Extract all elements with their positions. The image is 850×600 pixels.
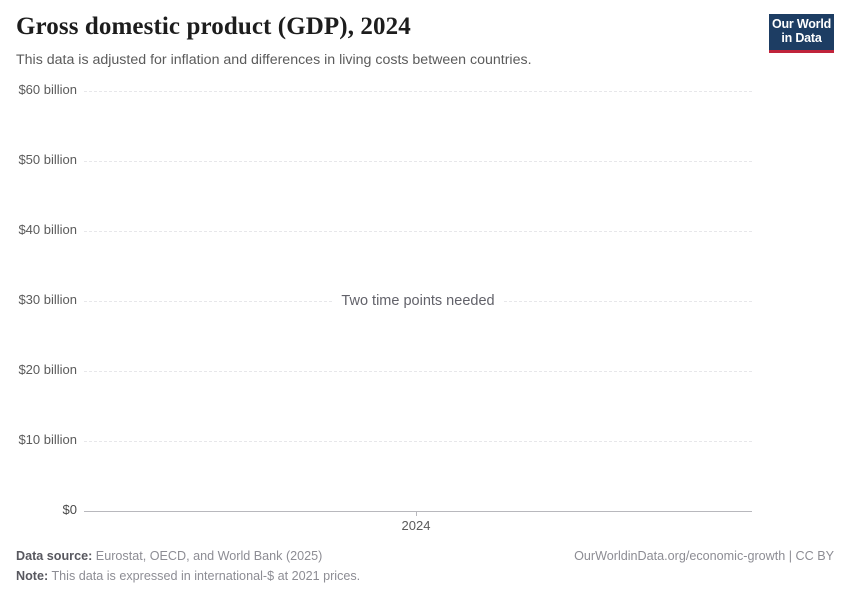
logo-line-2: in Data	[781, 32, 821, 46]
data-source-line: Data source: Eurostat, OECD, and World B…	[16, 548, 322, 565]
attribution-link[interactable]: OurWorldinData.org/economic-growth | CC …	[574, 548, 834, 565]
gridline	[84, 231, 752, 232]
logo-line-1: Our World	[772, 18, 831, 32]
gridline	[84, 161, 752, 162]
gridline-row-40b: $40 billion	[0, 231, 850, 232]
x-axis: 2024	[0, 511, 850, 541]
gridline	[84, 91, 752, 92]
y-axis-tick-label: $40 billion	[18, 222, 77, 237]
x-axis-tick-mark	[416, 511, 417, 516]
gridline-row-20b: $20 billion	[0, 371, 850, 372]
y-axis-tick-label: $60 billion	[18, 82, 77, 97]
gridline-row-10b: $10 billion	[0, 441, 850, 442]
data-source-label: Data source:	[16, 549, 92, 563]
gridline	[84, 371, 752, 372]
x-axis-tick-label: 2024	[402, 518, 431, 533]
our-world-in-data-logo[interactable]: Our World in Data	[769, 14, 834, 53]
chart-header: Gross domestic product (GDP), 2024 This …	[0, 0, 850, 78]
chart-subtitle: This data is adjusted for inflation and …	[16, 51, 532, 70]
page-title: Gross domestic product (GDP), 2024	[16, 12, 411, 42]
data-source-value: Eurostat, OECD, and World Bank (2025)	[92, 549, 322, 563]
note-line: Note: This data is expressed in internat…	[16, 568, 360, 585]
note-value: This data is expressed in international-…	[48, 569, 360, 583]
chart-footer: Data source: Eurostat, OECD, and World B…	[0, 540, 850, 600]
plot-area: $60 billion $50 billion $40 billion $30 …	[0, 78, 850, 538]
gridline-row-50b: $50 billion	[0, 161, 850, 162]
y-axis-tick-label: $20 billion	[18, 362, 77, 377]
note-label: Note:	[16, 569, 48, 583]
gridline	[84, 441, 752, 442]
chart-page: Gross domestic product (GDP), 2024 This …	[0, 0, 850, 600]
y-axis-tick-label: $10 billion	[18, 432, 77, 447]
empty-state-message: Two time points needed	[84, 292, 752, 310]
gridline-row-60b: $60 billion	[0, 91, 850, 92]
empty-state-text: Two time points needed	[333, 293, 502, 309]
y-axis-tick-label: $30 billion	[18, 292, 77, 307]
y-axis-tick-label: $50 billion	[18, 152, 77, 167]
